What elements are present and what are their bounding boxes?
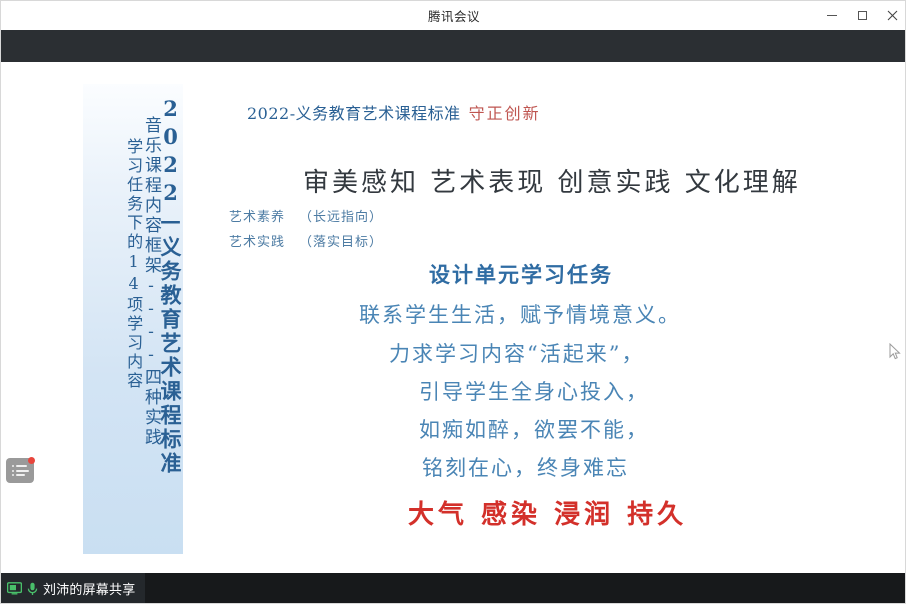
screen-share-icon [7,582,22,595]
maximize-icon [858,11,867,20]
slide-sub-item-2-term: 艺术实践 [229,235,285,250]
slide-body-line-1: 联系学生生活，赋予情境意义。 [359,299,681,329]
tencent-meeting-window: 腾讯会议 2022—义务教育艺术课程标准 音乐课程内容框架----四种 [0,0,906,604]
window-title: 腾讯会议 [428,6,480,25]
slide-heading: 2022-义务教育艺术课程标准守正创新 [247,100,541,124]
title-bar: 腾讯会议 [1,1,906,31]
slide-sub-item-1-note: （长远指向） [299,210,383,225]
bottom-status-bar: 刘沛的屏幕共享 [1,573,906,604]
banner-column-3: 学习任务下的14项学习内容 [124,138,141,391]
slide-heading-accent: 守正创新 [469,104,541,123]
slide-task-title: 设计单元学习任务 [429,259,613,289]
maximize-button[interactable] [847,1,877,30]
microphone-icon [27,582,38,596]
minimize-icon [827,15,837,16]
slide-sub-item-1: 艺术素养（长远指向） [229,206,383,225]
slide-body-line-3: 引导学生全身心投入， [419,376,649,406]
screen-share-viewport[interactable]: 2022—义务教育艺术课程标准 音乐课程内容框架----四种实践 学习任务下的1… [1,62,906,573]
slide-sub-item-2-note: （落实目标） [299,235,383,250]
close-icon [887,10,898,21]
slide-sub-item-1-term: 艺术素养 [229,210,285,225]
meeting-top-band [1,30,906,62]
slide-body-line-5: 铭刻在心，终身难忘 [422,452,629,482]
list-panel-icon [12,464,29,477]
banner-column-1: 2022—义务教育艺术课程标准 [159,96,181,476]
slide-sub-item-2: 艺术实践（落实目标） [229,231,383,250]
slide-footer-emphasis: 大气 感染 浸润 持久 [408,494,687,531]
screen-share-status-chip[interactable]: 刘沛的屏幕共享 [1,573,145,604]
slide-heading-main: 2022-义务教育艺术课程标准 [247,104,461,123]
close-button[interactable] [877,1,906,30]
banner-column-2: 音乐课程内容框架----四种实践 [141,116,159,448]
slide-body-line-2: 力求学习内容“活起来”， [389,338,644,368]
screen-share-status-text: 刘沛的屏幕共享 [43,579,135,598]
presentation-slide: 2022—义务教育艺术课程标准 音乐课程内容框架----四种实践 学习任务下的1… [1,62,906,573]
slide-body-line-4: 如痴如醉，欲罢不能， [419,414,649,444]
slide-vertical-banner: 2022—义务教育艺术课程标准 音乐课程内容框架----四种实践 学习任务下的1… [83,84,183,554]
side-panel-toggle-button[interactable] [6,458,34,483]
slide-core-literacy-line: 审美感知 艺术表现 创意实践 文化理解 [303,162,801,199]
minimize-button[interactable] [817,1,847,30]
mouse-pointer-icon [889,343,901,361]
notification-badge [28,457,35,464]
window-controls [817,1,906,30]
